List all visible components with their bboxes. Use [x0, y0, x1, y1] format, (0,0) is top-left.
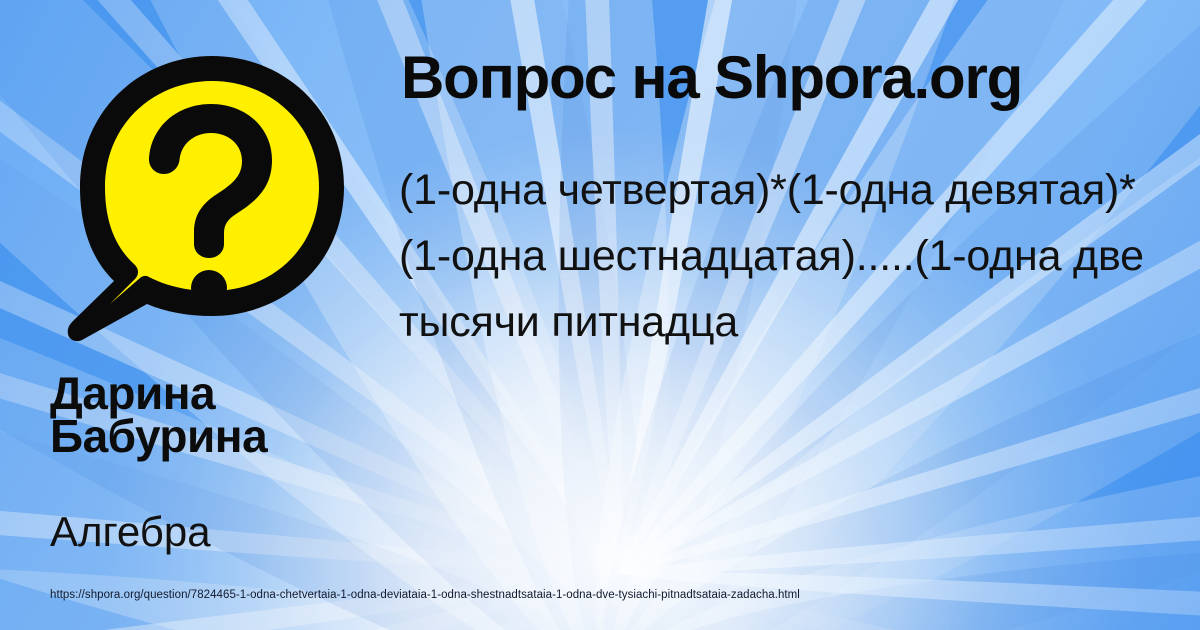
- author-name: Дарина Бабурина: [50, 372, 380, 458]
- page-title: Вопрос на Shpora.org: [401, 48, 1181, 108]
- question-speech-bubble-icon: [52, 48, 352, 348]
- subject-label: Алгебра: [50, 510, 380, 554]
- question-text: (1-одна четвертая)*(1-одна девятая)*(1-о…: [399, 157, 1164, 355]
- source-url: https://shpora.org/question/7824465-1-od…: [50, 589, 800, 603]
- shpora-question-card: Вопрос на Shpora.org (1-одна четвертая)*…: [0, 0, 1200, 630]
